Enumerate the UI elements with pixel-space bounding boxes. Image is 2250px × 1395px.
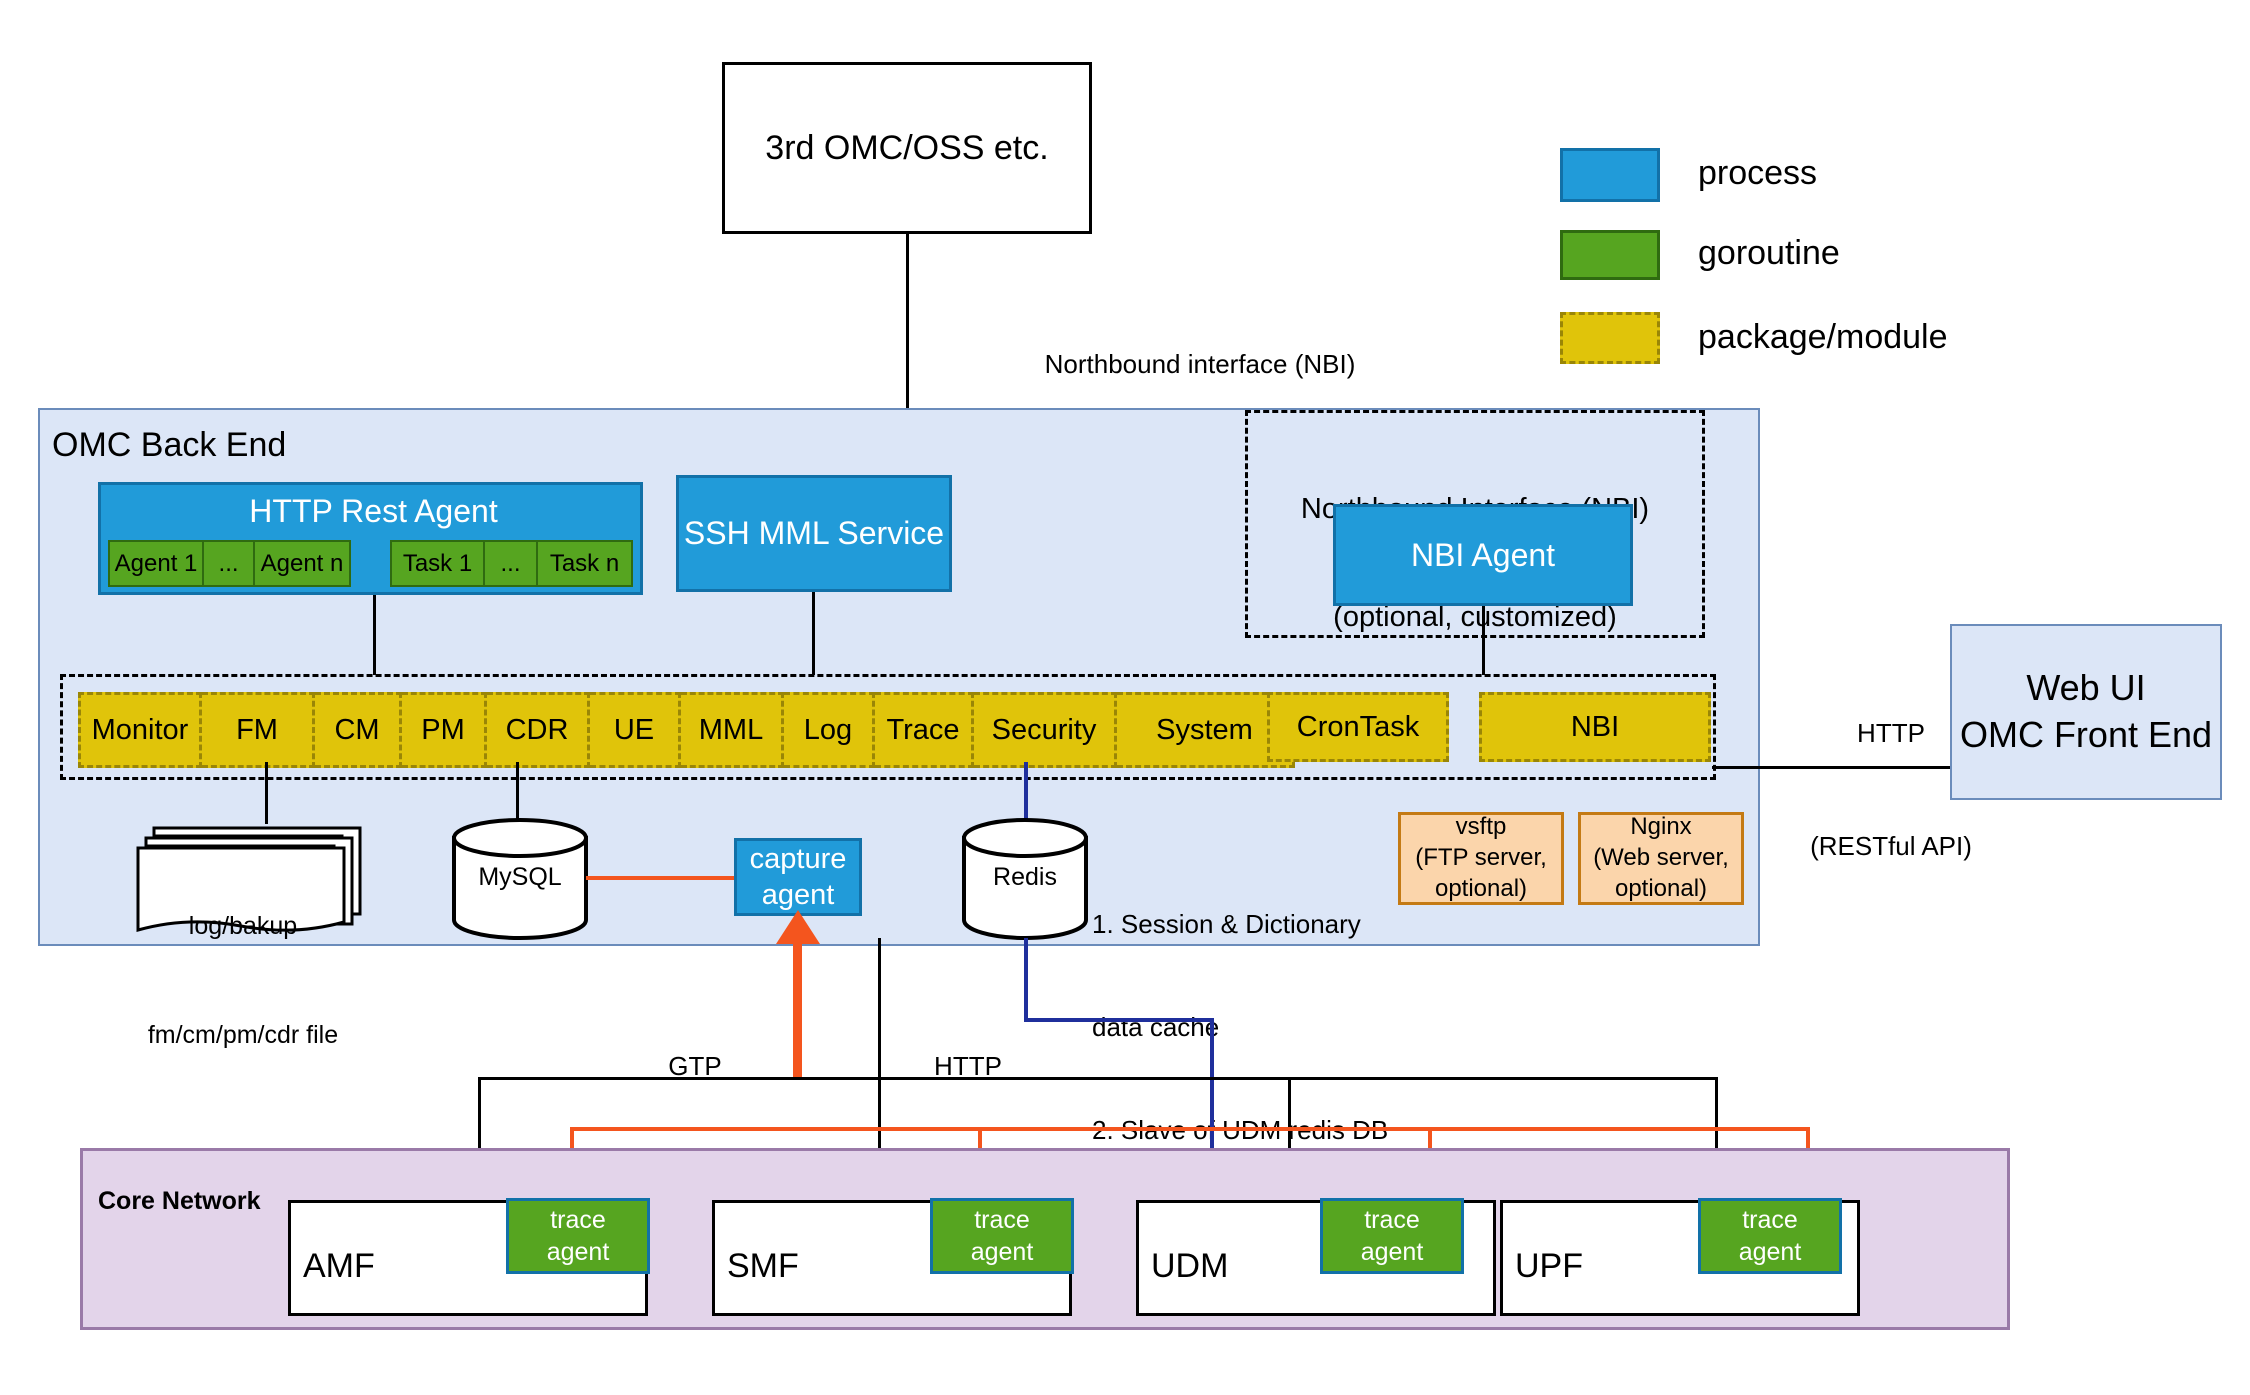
gtp-trace-report-line: [793, 938, 802, 1080]
legend-label-package-module: package/module: [1698, 316, 1948, 359]
module-list: Monitor FM CM PM CDR UE MML Log Trace Se…: [78, 692, 1295, 762]
module-nbi[interactable]: NBI: [1479, 692, 1711, 762]
goroutine-task-ellipsis: ...: [485, 540, 538, 587]
nginx-label-line2: (Web server,: [1593, 843, 1729, 874]
ssh-mml-to-modules-line: [812, 592, 815, 675]
nf-label-amf: AMF: [303, 1245, 375, 1288]
nbi-agent-process[interactable]: NBI Agent: [1333, 504, 1633, 606]
nginx-label-line1: Nginx: [1630, 812, 1691, 843]
trace-agent-amf[interactable]: trace agent: [506, 1198, 650, 1274]
legend-label-goroutine: goroutine: [1698, 232, 1840, 275]
trace-agent-upf-line2: agent: [1739, 1236, 1802, 1269]
trace-agent-udm-line1: trace: [1364, 1204, 1420, 1237]
mysql-to-capture-agent-line: [586, 876, 734, 880]
trace-agent-smf-line1: trace: [974, 1204, 1030, 1237]
ssh-mml-service-label: SSH MML Service: [684, 515, 944, 552]
legend: process goroutine package/module: [1560, 140, 2200, 370]
trace-agent-smf-line2: agent: [971, 1236, 1034, 1269]
ssh-mml-service-process[interactable]: SSH MML Service: [676, 475, 952, 592]
modules-to-mysql-line: [516, 762, 519, 824]
module-ue[interactable]: UE: [590, 692, 681, 768]
capture-agent-process[interactable]: capture agent: [734, 838, 862, 916]
vsftp-label-line1: vsftp: [1456, 812, 1507, 843]
goroutine-agent-ellipsis: ...: [204, 540, 255, 587]
nbi-agent-to-modules-line: [1482, 606, 1485, 675]
gtp-arrowhead-icon: [776, 910, 820, 950]
goroutine-task-n[interactable]: Task n: [538, 540, 633, 587]
nginx-label-line3: optional): [1615, 874, 1707, 905]
web-ui-front-end-box[interactable]: Web UI OMC Front End: [1950, 624, 2222, 800]
http-rest-agent-title: HTTP Rest Agent: [101, 491, 646, 531]
nf-label-upf: UPF: [1515, 1245, 1583, 1288]
module-pm[interactable]: PM: [402, 692, 487, 768]
nf-black-bus-horizontal: [478, 1077, 1718, 1080]
core-network-title: Core Network: [98, 1186, 261, 1217]
web-ui-title-line2: OMC Front End: [1960, 712, 2212, 759]
module-log[interactable]: Log: [784, 692, 875, 768]
module-cm[interactable]: CM: [315, 692, 402, 768]
agent-goroutine-group: Agent 1 ... Agent n: [108, 540, 351, 587]
legend-swatch-goroutine: [1560, 230, 1660, 280]
diagram-canvas: 3rd OMC/OSS etc. Northbound interface (N…: [0, 0, 2250, 1395]
goroutine-agent-n[interactable]: Agent n: [255, 540, 351, 587]
module-trace[interactable]: Trace: [875, 692, 974, 768]
capture-agent-label-line2: agent: [762, 877, 835, 913]
trace-agent-amf-line1: trace: [550, 1204, 606, 1237]
module-monitor[interactable]: Monitor: [78, 692, 202, 768]
redis-label: Redis: [960, 862, 1090, 893]
modules-to-redis-line: [1024, 762, 1028, 824]
nf-label-smf: SMF: [727, 1245, 799, 1288]
third-party-omc-oss-label: 3rd OMC/OSS etc.: [765, 129, 1048, 168]
module-security[interactable]: Security: [974, 692, 1117, 768]
module-cdr[interactable]: CDR: [487, 692, 590, 768]
capture-agent-label-line1: capture: [750, 841, 847, 877]
trace-agent-udm-line2: agent: [1361, 1236, 1424, 1269]
log-backup-files-label: log/bakup fm/cm/pm/cdr file: [138, 848, 348, 1114]
legend-swatch-process: [1560, 148, 1660, 202]
nbi-agent-label: NBI Agent: [1411, 537, 1555, 574]
trace-agent-amf-line2: agent: [547, 1236, 610, 1269]
trace-agent-upf-line1: trace: [1742, 1204, 1798, 1237]
legend-swatch-package-module: [1560, 312, 1660, 364]
third-party-omc-oss-box: 3rd OMC/OSS etc.: [722, 62, 1092, 234]
vsftp-server-box: vsftp (FTP server, optional): [1398, 812, 1564, 905]
goroutine-agent-1[interactable]: Agent 1: [108, 540, 204, 587]
vsftp-label-line2: (FTP server,: [1415, 843, 1547, 874]
goroutine-task-1[interactable]: Task 1: [390, 540, 485, 587]
http-rest-agent-to-modules-line: [373, 595, 376, 675]
legend-label-process: process: [1698, 152, 1817, 195]
omc-back-end-title: OMC Back End: [52, 424, 286, 467]
trace-agent-smf[interactable]: trace agent: [930, 1198, 1074, 1274]
nf-label-udm: UDM: [1151, 1245, 1228, 1288]
module-mml[interactable]: MML: [681, 692, 784, 768]
module-fm[interactable]: FM: [202, 692, 315, 768]
trace-agent-udm[interactable]: trace agent: [1320, 1198, 1464, 1274]
trace-agent-upf[interactable]: trace agent: [1698, 1198, 1842, 1274]
nginx-server-box: Nginx (Web server, optional): [1578, 812, 1744, 905]
task-goroutine-group: Task 1 ... Task n: [390, 540, 633, 587]
trace-orange-bus-horizontal: [570, 1127, 1810, 1131]
mysql-label: MySQL: [450, 862, 590, 893]
nbi-connector-line: [906, 234, 909, 409]
web-ui-title-line1: Web UI: [2026, 665, 2145, 712]
vsftp-label-line3: optional): [1435, 874, 1527, 905]
module-crontask[interactable]: CronTask: [1267, 692, 1449, 762]
